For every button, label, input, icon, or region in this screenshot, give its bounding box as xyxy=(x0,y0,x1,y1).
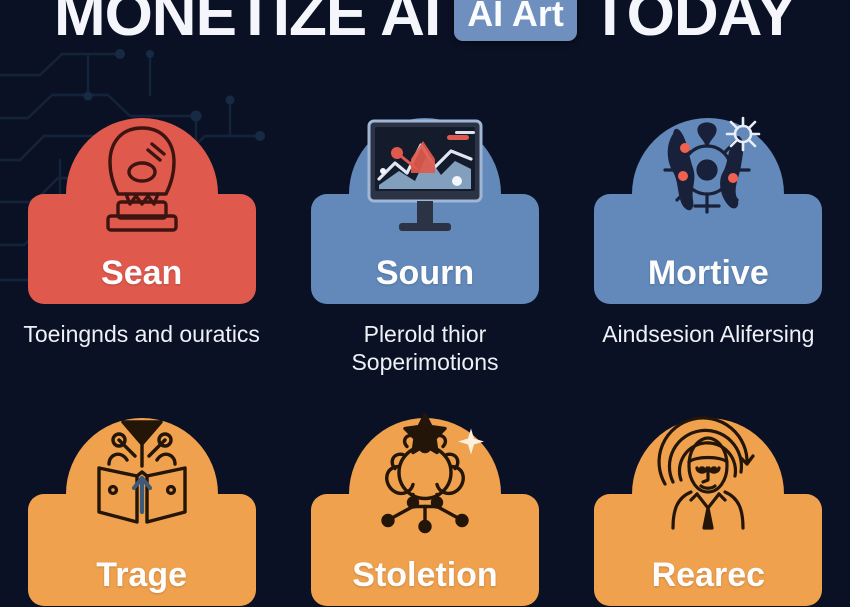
card-title: Sourn xyxy=(376,256,474,290)
card-cell: Rearec xyxy=(567,418,850,607)
card-cell: Sourn Plerold thior Soperimotions xyxy=(283,118,566,388)
card-subtitle: Plerold thior Soperimotions xyxy=(300,320,550,376)
card-mortive[interactable]: Mortive xyxy=(594,118,822,304)
headline-text-before: MONETIZE AI xyxy=(54,0,440,46)
page-title: MONETIZE AI AI Art TODAY xyxy=(0,0,850,46)
card-body: Rearec xyxy=(594,494,822,606)
card-trage[interactable]: Trage xyxy=(28,418,256,606)
card-title: Stoletion xyxy=(352,558,497,592)
card-sean[interactable]: Sean xyxy=(28,118,256,304)
card-row-bottom: Trage xyxy=(0,418,850,607)
card-subtitle: Aindsesion Alifersing xyxy=(583,320,833,348)
card-rearec[interactable]: Rearec xyxy=(594,418,822,606)
card-title: Trage xyxy=(96,558,187,592)
card-title: Rearec xyxy=(652,558,765,592)
card-title: Mortive xyxy=(648,256,769,290)
card-body: Mortive xyxy=(594,194,822,304)
card-cell: Mortive Aindsesion Alifersing xyxy=(567,118,850,388)
card-title: Sean xyxy=(101,256,182,290)
headline-text-after: TODAY xyxy=(591,0,796,46)
card-sourn[interactable]: Sourn xyxy=(311,118,539,304)
card-row-top: Sean Toeingnds and ouratics xyxy=(0,118,850,388)
card-body: Stoletion xyxy=(311,494,539,606)
card-body: Sean xyxy=(28,194,256,304)
poster-canvas: MONETIZE AI AI Art TODAY xyxy=(0,0,850,607)
card-cell: Sean Toeingnds and ouratics xyxy=(0,118,283,388)
card-body: Sourn xyxy=(311,194,539,304)
card-subtitle: Toeingnds and ouratics xyxy=(17,320,267,348)
card-cell: Trage xyxy=(0,418,283,607)
ai-art-badge-label: AI Art xyxy=(467,0,564,32)
card-stoletion[interactable]: Stoletion xyxy=(311,418,539,606)
ai-art-badge[interactable]: AI Art xyxy=(454,0,577,41)
card-cell: Stoletion xyxy=(283,418,566,607)
card-body: Trage xyxy=(28,494,256,606)
